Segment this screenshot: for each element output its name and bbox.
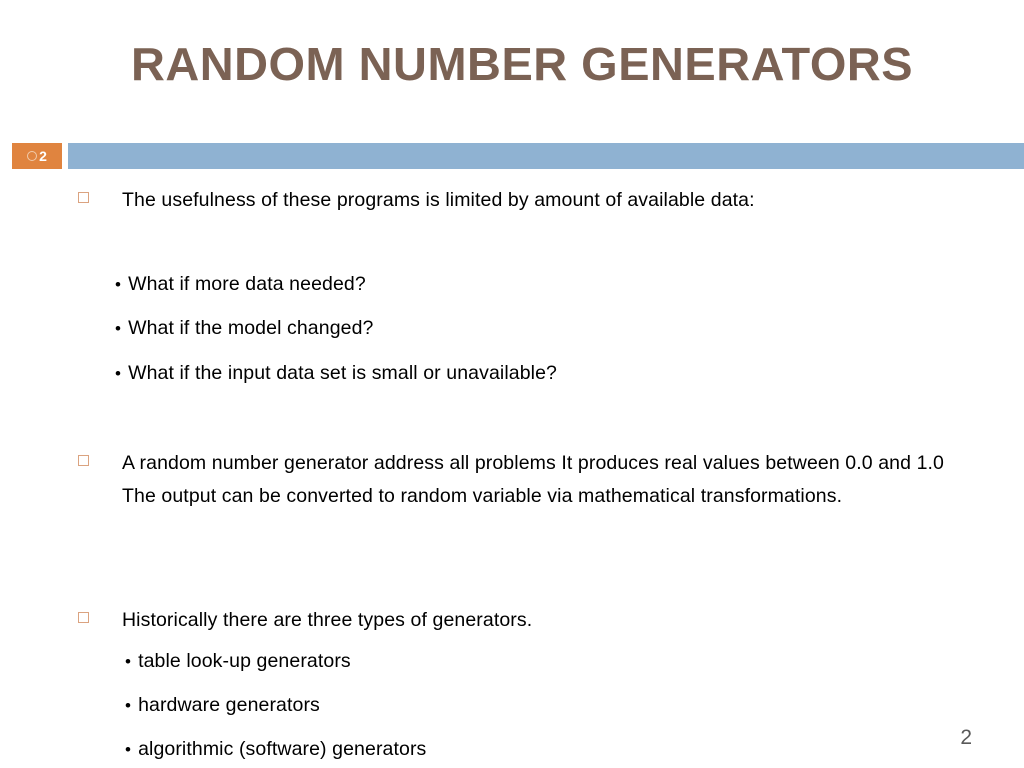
dot-bullet-icon: • (115, 365, 121, 382)
square-outline-bullet-icon (78, 192, 89, 203)
dot-bullet-icon: • (125, 741, 131, 758)
dot-bullet-icon: • (115, 320, 121, 337)
page-title: RANDOM NUMBER GENERATORS (61, 36, 983, 92)
dot-bullet-icon: • (115, 276, 121, 293)
dot-bullet-icon: • (125, 697, 131, 714)
bullet-level2-item: • hardware generators (125, 692, 320, 718)
bullet-level2-item: • What if the model changed? (115, 315, 373, 341)
slide-number-badge-label: 2 (39, 149, 47, 163)
bullet-level2-item: • What if more data needed? (115, 271, 366, 297)
header-band: 2 (0, 143, 1024, 169)
bullet-level2-text: What if more data needed? (128, 271, 366, 297)
square-outline-bullet-icon (78, 455, 89, 466)
bullet-level2-text: algorithmic (software) generators (138, 736, 426, 762)
bullet-level2-item: • algorithmic (software) generators (125, 736, 426, 762)
bullet-level2-text: What if the input data set is small or u… (128, 360, 557, 386)
header-band-blue-bar (68, 143, 1024, 169)
slide-number-badge: 2 (12, 143, 62, 169)
bullet-level2-item: • table look-up generators (125, 648, 351, 674)
page-number: 2 (960, 726, 972, 750)
square-outline-bullet-icon (78, 612, 89, 623)
bullet-level1-text: Historically there are three types of ge… (122, 604, 532, 637)
bullet-level1-item: The usefulness of these programs is limi… (78, 184, 968, 217)
presentation-slide: RANDOM NUMBER GENERATORS 2 The usefulnes… (0, 0, 1024, 768)
dot-bullet-icon: • (125, 653, 131, 670)
bullet-level2-text: What if the model changed? (128, 315, 373, 341)
bullet-level2-text: table look-up generators (138, 648, 351, 674)
bullet-level1-text: The usefulness of these programs is limi… (122, 184, 755, 217)
bullet-level1-text: A random number generator address all pr… (122, 447, 968, 513)
bullet-level1-item: Historically there are three types of ge… (78, 604, 968, 637)
circle-outline-icon (27, 151, 37, 161)
bullet-level2-item: • What if the input data set is small or… (115, 360, 557, 386)
slide-body: The usefulness of these programs is limi… (0, 169, 1024, 768)
bullet-level2-text: hardware generators (138, 692, 320, 718)
bullet-level1-item: A random number generator address all pr… (78, 447, 968, 513)
